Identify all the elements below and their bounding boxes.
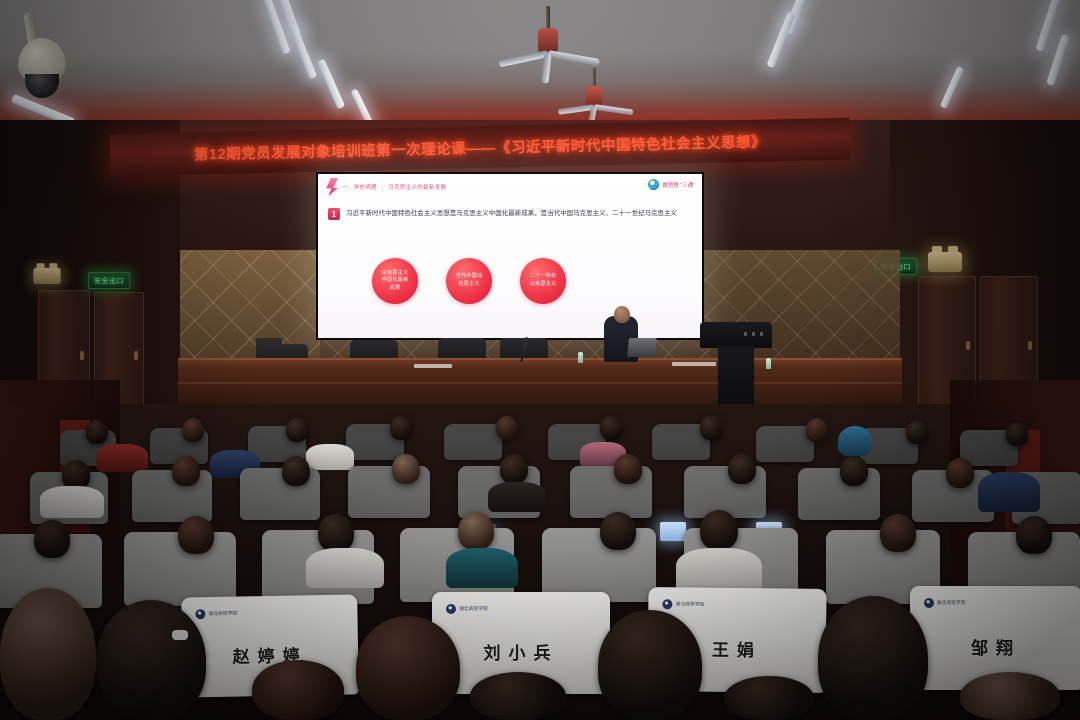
audience-head [1016,516,1052,554]
ceiling [0,0,1080,132]
seat-org-logo: 湖北商贸学院 [446,604,488,614]
foreground-head [598,610,702,720]
audience-head [728,454,756,484]
seat-name-label: 邹翔 [910,634,1080,659]
presenter-laptop [627,338,657,357]
slide-logo-text: 微思想 “三通” [662,181,695,189]
seat-org-logo: 湖北商贸学院 [663,600,705,610]
audience-shoulders [978,472,1040,512]
presenter-head [614,306,630,323]
audience-head [700,510,738,550]
slide-body: 1 习近平新时代中国特色社会主义思想是马克思主义中国化最新成果，是当代中国马克思… [328,208,690,220]
seat-org-logo-icon [924,598,934,608]
audience-head [614,454,642,484]
seat-org-logo-icon [195,609,205,619]
audience-head [500,454,528,484]
slide-breadcrumb-prefix: 一、学史明理 [342,185,377,191]
slide-circle-label: 当代中国马克思主义 [454,273,484,288]
exit-sign-left-label: 安全出口 [94,276,124,286]
audience-beanie-hat [838,426,872,456]
audience-head [392,454,420,484]
audience-head [178,516,214,554]
slide-circle-label: 马克思主义中国化最新成果 [380,270,410,293]
slide-header-flag-icon [326,178,338,196]
wall-lamp [33,268,60,284]
audience-head [700,416,722,440]
fan-motor [538,28,558,54]
exit-sign-left: 安全出口 [88,272,130,289]
audience-head [390,416,412,440]
water-bottle [578,352,583,363]
foreground-head [818,596,928,720]
audience-head [318,514,354,552]
foreground-head [960,672,1060,720]
audience-head [286,418,308,442]
audience-shoulders [446,548,518,588]
audience-head [600,416,622,440]
audience-shoulders [676,548,762,592]
slide-bullet-number: 1 [328,208,340,220]
seat-org-logo-icon [663,600,673,610]
face-mask [172,630,188,640]
foreground-head [724,676,814,720]
audience-seat [444,424,502,460]
audience-shoulders [488,482,546,512]
wall-lamp [928,252,962,272]
table-paper [414,364,452,368]
audience-shoulders [306,548,384,588]
audience-head [182,418,204,442]
audience-head [86,420,108,444]
audience-head [282,456,310,486]
audience-head [880,514,916,552]
seat-org-logo-text: 湖北商贸学院 [676,602,705,608]
slide-circle-group: 马克思主义中国化最新成果 当代中国马克思主义 二十一世纪马克思主义 [372,258,566,304]
audience-shoulders [40,486,104,518]
seat-org-logo-text: 湖北商贸学院 [937,600,966,606]
audience-head [34,520,70,558]
seat-org-logo: 湖北商贸学院 [195,609,237,620]
foreground-head [356,616,460,720]
seat-org-logo-text: 湖北商贸学院 [459,606,488,612]
foreground-head [252,660,344,720]
presentation-slide: 一、学史明理 | 马克思主义的最新发展 微思想 “三通” 1 习近平新时代中国特… [318,174,702,338]
seat-org-logo: 湖北商贸学院 [924,598,966,608]
audience-head [1006,422,1028,446]
seat-org-logo-icon [446,604,456,614]
slide-circle: 马克思主义中国化最新成果 [372,258,418,304]
slide-breadcrumb: 一、学史明理 | 马克思主义的最新发展 [342,183,446,191]
slide-circle: 当代中国马克思主义 [446,258,492,304]
slide-circle: 二十一世纪马克思主义 [520,258,566,304]
foreground-head [96,600,206,720]
audience-shoulders [96,444,148,472]
audience-head [458,512,494,550]
foreground-head [0,588,96,720]
audience-head [806,418,828,442]
audience-seat [542,528,656,602]
audience-head [496,416,518,440]
audience-shoulders [306,444,354,470]
slide-circle-label: 二十一世纪马克思主义 [528,273,558,288]
seat-name-label: 赵婷婷 [182,640,358,668]
event-banner-text: 第12期党员发展对象培训班第一次理论课——《习近平新时代中国特色社会主义思想》 [194,130,766,164]
slide-logo-ring-icon [648,179,659,190]
foreground-head [470,672,566,720]
slide-logo: 微思想 “三通” [648,179,695,190]
lectern-controls [744,332,766,336]
audience-head [600,512,636,550]
seat-org-logo-text: 湖北商贸学院 [208,611,237,618]
slide-breadcrumb-main: 马克思主义的最新发展 [388,185,446,191]
slide-breadcrumb-separator: | [382,185,384,191]
audience-head [946,458,974,488]
projection-screen: 一、学史明理 | 马克思主义的最新发展 微思想 “三通” 1 习近平新时代中国特… [316,172,704,340]
slide-paragraph: 习近平新时代中国特色社会主义思想是马克思主义中国化最新成果，是当代中国马克思主义… [346,208,677,220]
audience-head [172,456,200,486]
audience-head [906,420,928,444]
audience-head [840,456,868,486]
audience-laptop-screen [660,522,686,541]
lecture-hall-photo: 安全出口 安全出口 请勿吸烟 第12期党员发展对象培训班第一次理论课——《习近平… [0,0,1080,720]
slide-header: 一、学史明理 | 马克思主义的最新发展 微思想 “三通” [318,174,702,200]
